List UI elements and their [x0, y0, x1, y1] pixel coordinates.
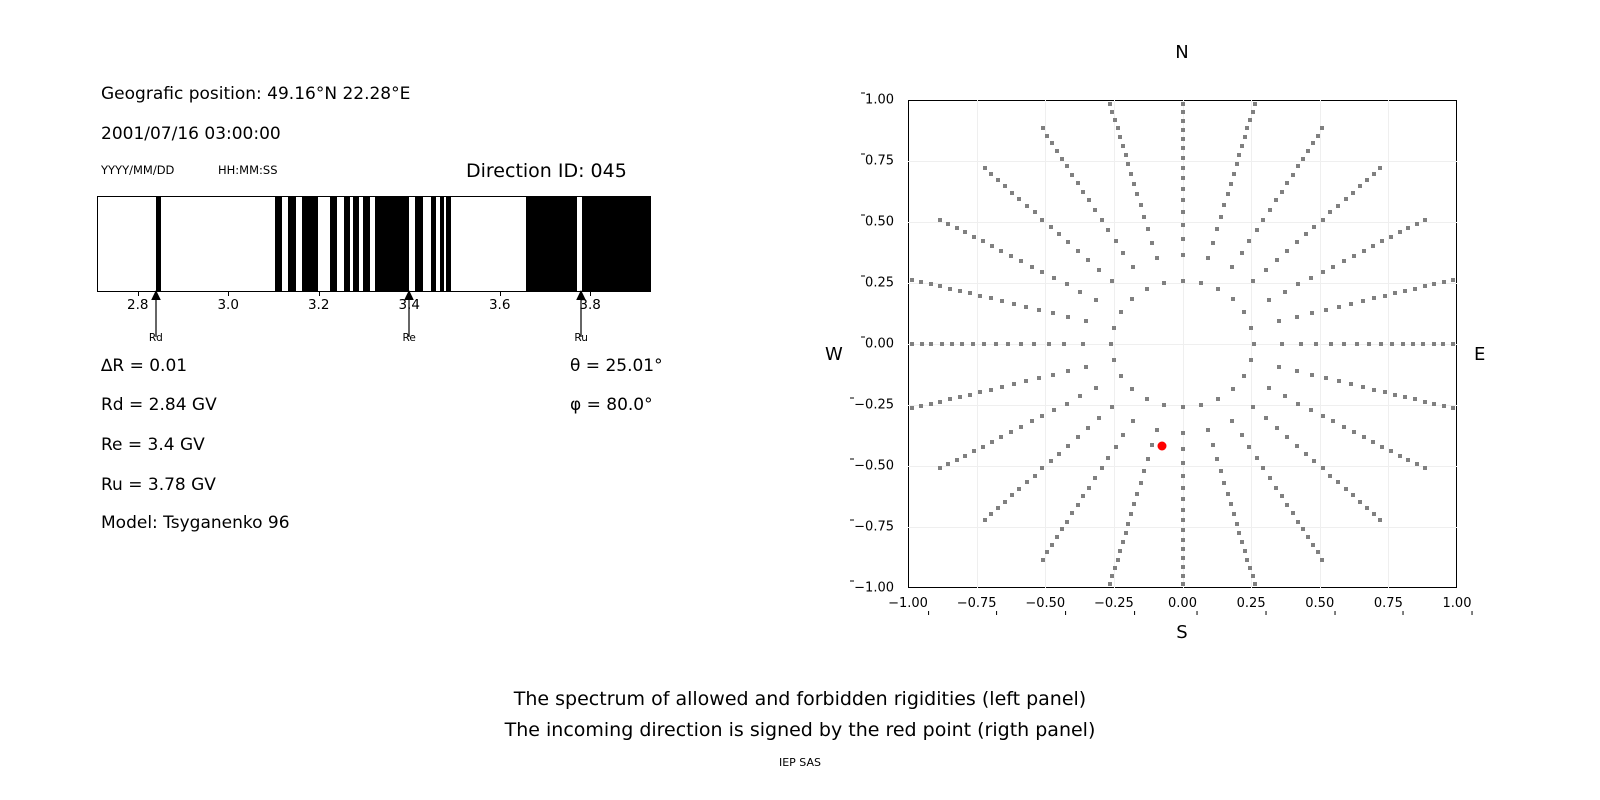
direction-point — [1081, 494, 1085, 498]
direction-point — [1249, 326, 1253, 330]
direction-point — [1280, 190, 1284, 194]
direction-point — [1423, 466, 1427, 470]
marker-label-ru: Ru — [574, 332, 587, 344]
direction-point — [1379, 342, 1383, 346]
direction-point — [1047, 342, 1051, 346]
caption-line-2: The incoming direction is signed by the … — [505, 719, 1096, 741]
direction-point — [990, 244, 994, 248]
direction-point — [1145, 397, 1149, 401]
direction-point — [1181, 210, 1185, 214]
direction-point — [1251, 405, 1255, 409]
direction-point — [1451, 278, 1455, 282]
direction-point — [1314, 342, 1318, 346]
marker-arrow-rd — [146, 290, 166, 338]
direction-point — [1367, 342, 1371, 346]
direction-point — [1255, 456, 1259, 460]
direction-point — [1040, 466, 1044, 470]
direction-point — [1024, 379, 1028, 383]
direction-point — [1066, 369, 1070, 373]
direction-point — [1062, 342, 1066, 346]
direction-point — [1296, 282, 1300, 286]
direction-point — [1199, 403, 1203, 407]
direction-point — [1285, 503, 1289, 507]
direction-point — [1060, 157, 1064, 161]
x-axis-tick — [1403, 611, 1404, 615]
param-rd: Rd = 2.84 GV — [101, 395, 217, 415]
direction-point — [929, 282, 933, 286]
direction-point — [1261, 218, 1265, 222]
direction-point — [1336, 204, 1340, 208]
direction-point — [1432, 402, 1436, 406]
direction-point — [950, 342, 954, 346]
direction-point — [1219, 469, 1223, 473]
direction-point — [1267, 298, 1271, 302]
direction-point — [1389, 449, 1393, 453]
direction-point — [1311, 141, 1315, 145]
direction-point — [1215, 227, 1219, 231]
direction-point — [968, 291, 972, 295]
direction-point — [1114, 445, 1118, 449]
direction-point — [1155, 428, 1159, 432]
direction-point — [1328, 210, 1332, 214]
direction-point — [1119, 374, 1123, 378]
direction-point — [958, 395, 962, 399]
direction-point — [946, 222, 950, 226]
direction-point — [1316, 550, 1320, 554]
direction-point — [1057, 452, 1061, 456]
direction-point — [1295, 240, 1299, 244]
direction-point — [1181, 508, 1185, 512]
direction-point — [1006, 342, 1010, 346]
direction-point — [1112, 358, 1116, 362]
direction-point — [1003, 184, 1007, 188]
direction-point — [1342, 425, 1346, 429]
forbidden-band — [415, 197, 423, 291]
direction-point — [1041, 558, 1045, 562]
direction-point — [1296, 402, 1300, 406]
direction-point — [1181, 474, 1185, 478]
direction-point — [1181, 110, 1185, 114]
direction-point — [1113, 566, 1117, 570]
x-axis-tick — [997, 611, 998, 615]
param-ru: Ru = 3.78 GV — [101, 475, 216, 495]
direction-point — [1243, 135, 1247, 139]
direction-point — [1380, 445, 1384, 449]
gridline-horizontal — [908, 283, 1457, 284]
direction-point — [1324, 308, 1328, 312]
direction-point — [1135, 492, 1139, 496]
direction-point — [1199, 281, 1203, 285]
direction-point — [1108, 582, 1112, 586]
direction-point — [1336, 480, 1340, 484]
direction-point — [1411, 342, 1415, 346]
direction-point — [1181, 187, 1185, 191]
direction-point — [1222, 481, 1226, 485]
direction-point — [1432, 342, 1436, 346]
direction-point — [1130, 297, 1134, 301]
direction-point — [1081, 190, 1085, 194]
direction-point — [1009, 254, 1013, 258]
direction-point — [1142, 215, 1146, 219]
direction-point — [1372, 296, 1376, 300]
direction-point — [1352, 430, 1356, 434]
direction-point — [1274, 198, 1278, 202]
direction-point — [968, 393, 972, 397]
forbidden-band — [582, 197, 650, 291]
direction-point — [1055, 149, 1059, 153]
direction-point — [1003, 500, 1007, 504]
direction-point — [1030, 419, 1034, 423]
direction-point — [1406, 226, 1410, 230]
direction-point — [1237, 531, 1241, 535]
x-axis-tick-label: 0.25 — [1237, 596, 1266, 611]
gridline-horizontal — [908, 466, 1457, 467]
direction-point — [1110, 110, 1114, 114]
direction-point — [1097, 416, 1101, 420]
direction-point — [919, 404, 923, 408]
direction-point — [1268, 208, 1272, 212]
direction-point — [1142, 469, 1146, 473]
direction-point — [960, 342, 964, 346]
direction-point — [1057, 232, 1061, 236]
direction-point — [1070, 173, 1074, 177]
direction-point — [1352, 254, 1356, 258]
direction-point — [1310, 373, 1314, 377]
direction-point — [1000, 385, 1004, 389]
direction-point — [1108, 102, 1112, 106]
direction-point — [1010, 493, 1014, 497]
direction-point — [1291, 173, 1295, 177]
param-model: Model: Tsyganenko 96 — [101, 513, 290, 533]
direction-point — [989, 512, 993, 516]
direction-point — [1247, 239, 1251, 243]
x-axis-tick-label: 0.75 — [1374, 596, 1403, 611]
direction-point — [1268, 476, 1272, 480]
y-axis-tick-label: 0.00 — [865, 337, 894, 352]
direction-point — [1181, 176, 1185, 180]
direction-point — [1277, 365, 1281, 369]
direction-point — [1050, 543, 1054, 547]
forbidden-band — [330, 197, 338, 291]
direction-point — [982, 342, 986, 346]
direction-point — [1124, 531, 1128, 535]
param-phi: φ = 80.0° — [570, 395, 653, 415]
y-axis-tick — [850, 581, 854, 582]
direction-point — [958, 289, 962, 293]
direction-point — [1146, 227, 1150, 231]
direction-point — [989, 296, 993, 300]
footer-credit: IEP SAS — [779, 756, 821, 769]
direction-point — [1235, 522, 1239, 526]
y-axis-tick — [861, 337, 865, 338]
compass-label-west: W — [825, 344, 843, 365]
direction-point — [1295, 444, 1299, 448]
direction-point — [1139, 203, 1143, 207]
direction-point — [1344, 197, 1348, 201]
direction-point — [1112, 326, 1116, 330]
direction-point — [946, 462, 950, 466]
marker-arrow-re — [399, 290, 419, 338]
y-axis-tick — [861, 215, 865, 216]
direction-point — [1261, 466, 1265, 470]
forbidden-band — [275, 197, 281, 291]
x-axis-tick — [928, 611, 929, 615]
forbidden-band — [344, 197, 350, 291]
direction-point — [1181, 582, 1185, 586]
direction-point — [1337, 379, 1341, 383]
direction-point — [1050, 141, 1054, 145]
direction-point — [1264, 416, 1268, 420]
direction-point — [1320, 558, 1324, 562]
direction-point — [910, 406, 914, 410]
direction-point — [1211, 443, 1215, 447]
direction-point — [1086, 258, 1090, 262]
direction-point — [1245, 558, 1249, 562]
forbidden-band — [431, 197, 436, 291]
direction-point — [1181, 166, 1185, 170]
direction-point — [1229, 182, 1233, 186]
direction-point — [1267, 386, 1271, 390]
direction-point — [1181, 223, 1185, 227]
forbidden-band — [288, 197, 295, 291]
direction-point — [1351, 493, 1355, 497]
direction-point — [1342, 342, 1346, 346]
direction-point — [1365, 178, 1369, 182]
direction-point — [996, 506, 1000, 510]
direction-point — [1441, 342, 1445, 346]
direction-point — [1321, 218, 1325, 222]
direction-point — [938, 466, 942, 470]
direction-point — [1299, 342, 1303, 346]
direction-point — [1451, 342, 1455, 346]
direction-point — [1130, 387, 1134, 391]
rigidity-spectrum-plot — [97, 196, 651, 292]
direction-point — [1401, 342, 1405, 346]
compass-label-north: N — [1175, 42, 1188, 63]
direction-point — [1248, 118, 1252, 122]
direction-point — [1121, 433, 1125, 437]
direction-point — [1351, 191, 1355, 195]
axis-tick — [138, 292, 139, 296]
direction-point — [919, 280, 923, 284]
direction-point — [1226, 492, 1230, 496]
direction-point — [1049, 459, 1053, 463]
direction-point — [1249, 358, 1253, 362]
direction-point — [1181, 253, 1185, 257]
gridline-horizontal — [908, 161, 1457, 162]
direction-point — [1372, 388, 1376, 392]
direction-point — [1084, 319, 1088, 323]
direction-point — [1124, 153, 1128, 157]
axis-tick — [228, 292, 229, 296]
axis-tick-label: 3.2 — [308, 297, 329, 313]
direction-point — [1066, 444, 1070, 448]
y-axis-tick-label: 0.25 — [865, 276, 894, 291]
direction-point — [1312, 225, 1316, 229]
direction-point — [1181, 128, 1185, 132]
compass-label-east: E — [1474, 344, 1485, 365]
datetime: 2001/07/16 03:00:00 — [101, 124, 281, 144]
direction-point — [1253, 102, 1257, 106]
direction-point — [1065, 402, 1069, 406]
direction-point — [1181, 461, 1185, 465]
direction-point — [1362, 435, 1366, 439]
direction-point — [1423, 400, 1427, 404]
direction-point — [1076, 503, 1080, 507]
direction-point — [1097, 268, 1101, 272]
direction-point — [1150, 241, 1154, 245]
direction-point — [1181, 538, 1185, 542]
direction-point — [1181, 279, 1185, 283]
direction-point — [1328, 474, 1332, 478]
direction-point — [1389, 235, 1393, 239]
direction-point — [1181, 518, 1185, 522]
direction-point — [1010, 191, 1014, 195]
direction-point — [963, 230, 967, 234]
direction-point — [1243, 549, 1247, 553]
direction-point — [1181, 431, 1185, 435]
geographic-position: Geografic position: 49.16°N 22.28°E — [101, 84, 410, 104]
direction-point — [1423, 218, 1427, 222]
direction-point — [1216, 287, 1220, 291]
direction-point — [1285, 435, 1289, 439]
direction-point — [963, 454, 967, 458]
direction-point — [1398, 454, 1402, 458]
direction-point — [999, 435, 1003, 439]
direction-point — [1086, 426, 1090, 430]
direction-point — [938, 400, 942, 404]
direction-point — [1012, 302, 1016, 306]
direction-point — [1240, 251, 1244, 255]
direction-point — [1285, 181, 1289, 185]
direction-point — [1312, 459, 1316, 463]
direction-point — [1121, 144, 1125, 148]
direction-point — [1296, 520, 1300, 524]
direction-point — [1232, 172, 1236, 176]
direction-point — [1362, 249, 1366, 253]
direction-point — [1040, 414, 1044, 418]
direction-point — [1403, 289, 1407, 293]
direction-point — [1126, 162, 1130, 166]
direction-point — [990, 440, 994, 444]
direction-point — [1162, 281, 1166, 285]
direction-point — [1415, 222, 1419, 226]
direction-point — [983, 518, 987, 522]
direction-id: Direction ID: 045 — [466, 160, 627, 182]
direction-point — [1301, 157, 1305, 161]
y-axis-tick-label: −1.00 — [854, 581, 894, 596]
direction-point — [1380, 239, 1384, 243]
direction-point — [994, 342, 998, 346]
direction-point — [1275, 258, 1279, 262]
direction-point — [1100, 466, 1104, 470]
direction-point — [1378, 166, 1382, 170]
direction-point — [1051, 311, 1055, 315]
direction-point — [1181, 528, 1185, 532]
direction-point — [1421, 342, 1425, 346]
direction-point — [1040, 218, 1044, 222]
direction-point — [1349, 382, 1353, 386]
direction-point — [1040, 270, 1044, 274]
direction-point — [1237, 153, 1241, 157]
direction-point — [983, 166, 987, 170]
direction-point — [1361, 299, 1365, 303]
direction-point — [1181, 486, 1185, 490]
direction-point — [1251, 279, 1255, 283]
direction-point — [1132, 182, 1136, 186]
direction-point — [996, 178, 1000, 182]
direction-point — [1247, 445, 1251, 449]
direction-point — [1349, 302, 1353, 306]
direction-point — [1337, 305, 1341, 309]
direction-point — [1037, 308, 1041, 312]
direction-point — [1033, 474, 1037, 478]
x-axis-tick-label: 1.00 — [1443, 596, 1472, 611]
direction-point — [1390, 342, 1394, 346]
direction-point — [1109, 342, 1113, 346]
direction-point — [1206, 428, 1210, 432]
direction-point — [1037, 376, 1041, 380]
direction-point — [972, 449, 976, 453]
direction-point — [1032, 342, 1036, 346]
y-axis-tick-label: 0.75 — [865, 154, 894, 169]
y-axis-tick — [861, 154, 865, 155]
direction-point — [1094, 298, 1098, 302]
direction-point — [1019, 425, 1023, 429]
direction-point — [1291, 511, 1295, 515]
y-axis-tick-label: −0.50 — [854, 459, 894, 474]
direction-point — [1065, 282, 1069, 286]
forbidden-band — [302, 197, 318, 291]
direction-point — [1181, 447, 1185, 451]
x-axis-tick — [1197, 611, 1198, 615]
direction-point — [1078, 394, 1082, 398]
direction-point — [1226, 192, 1230, 196]
direction-point — [1181, 565, 1185, 569]
direction-point — [1024, 305, 1028, 309]
direction-point — [1442, 404, 1446, 408]
direction-point — [1017, 487, 1021, 491]
direction-point — [1403, 395, 1407, 399]
direction-point — [1372, 512, 1376, 516]
direction-point — [1076, 181, 1080, 185]
direction-point — [1321, 466, 1325, 470]
direction-point — [1131, 265, 1135, 269]
y-axis-tick — [850, 459, 854, 460]
direction-point — [1285, 249, 1289, 253]
forbidden-band — [526, 197, 578, 291]
direction-point — [1066, 315, 1070, 319]
direction-point — [929, 342, 933, 346]
direction-point — [1121, 540, 1125, 544]
direction-point — [1248, 566, 1252, 570]
direction-point — [1181, 556, 1185, 560]
direction-point — [1321, 414, 1325, 418]
caption-line-1: The spectrum of allowed and forbidden ri… — [514, 688, 1086, 710]
direction-point — [1215, 457, 1219, 461]
forbidden-band — [375, 197, 409, 291]
gridline-horizontal — [908, 344, 1457, 345]
direction-point — [1321, 270, 1325, 274]
direction-point — [981, 239, 985, 243]
direction-point — [1116, 126, 1120, 130]
direction-point — [1355, 342, 1359, 346]
direction-point — [1306, 535, 1310, 539]
direction-point — [1230, 419, 1234, 423]
y-axis-tick — [850, 520, 854, 521]
direction-point — [1383, 390, 1387, 394]
direction-point — [1114, 239, 1118, 243]
